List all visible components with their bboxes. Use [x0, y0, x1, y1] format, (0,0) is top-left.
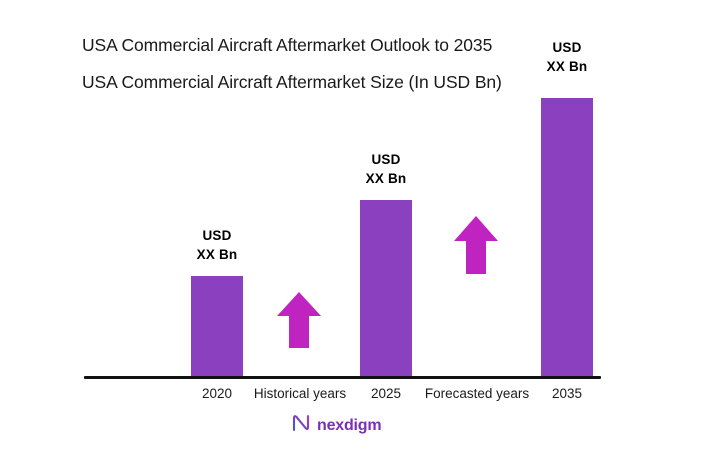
x-tick-2035: 2035 [527, 386, 607, 401]
nexdigm-wordmark: nexdigm [317, 418, 381, 434]
bar-label-2025-line1: USD [345, 150, 427, 169]
x-tick-historical-years: Historical years [240, 386, 360, 401]
bar-label-2025: USD XX Bn [345, 150, 427, 188]
growth-arrow-historical-icon [277, 292, 321, 348]
nexdigm-logo: nexdigm [291, 413, 381, 438]
bar-label-2020-line1: USD [176, 226, 258, 245]
x-axis-line [84, 376, 601, 379]
nexdigm-n-mark-icon [291, 413, 311, 438]
bar-label-2020: USD XX Bn [176, 226, 258, 264]
bar-label-2035-line2: XX Bn [526, 57, 608, 76]
bar-label-2025-line2: XX Bn [345, 169, 427, 188]
bar-2025[interactable] [360, 200, 412, 377]
bar-label-2035: USD XX Bn [526, 38, 608, 76]
bar-label-2035-line1: USD [526, 38, 608, 57]
infographic-canvas: USA Commercial Aircraft Aftermarket Outl… [0, 0, 710, 451]
growth-arrow-forecast-icon [454, 216, 498, 274]
plot-area: USD XX Bn USD XX Bn USD XX Bn [0, 0, 710, 451]
bar-2035[interactable] [541, 98, 593, 377]
x-tick-forecasted-years: Forecasted years [413, 386, 541, 401]
bar-2020[interactable] [191, 276, 243, 377]
bar-label-2020-line2: XX Bn [176, 245, 258, 264]
